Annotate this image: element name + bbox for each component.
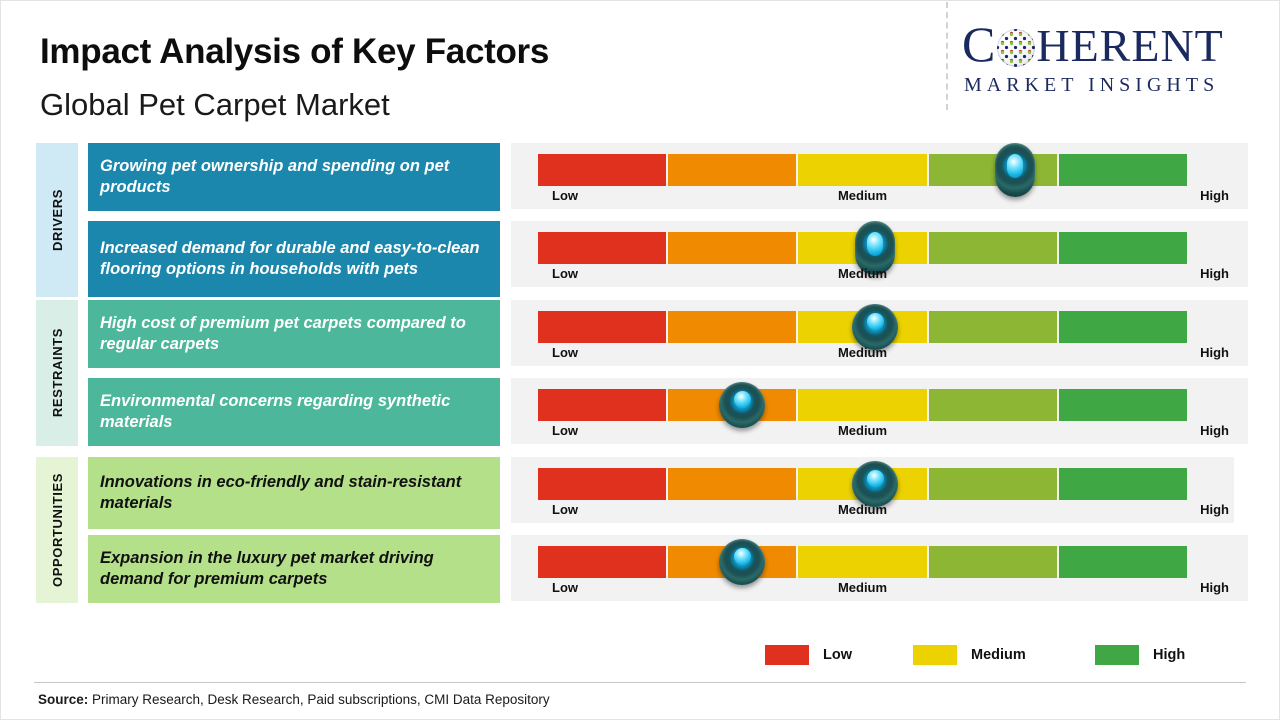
gauge-scale-bar (538, 389, 1187, 421)
legend-label: Medium (971, 647, 1026, 663)
scale-label-medium: Medium (838, 423, 887, 438)
gauge-segment-2 (668, 311, 796, 343)
gauge-segment-4 (929, 311, 1057, 343)
factor-box: Increased demand for durable and easy-to… (88, 221, 500, 297)
gauge-scale-labels: LowMediumHigh (538, 345, 1187, 365)
gauge-segment-5 (1059, 389, 1187, 421)
source-label: Source: (38, 692, 88, 707)
gauge-segment-1 (538, 154, 666, 186)
factor-box: Environmental concerns regarding synthet… (88, 378, 500, 446)
legend-swatch-medium (913, 645, 957, 665)
gauge-row: LowMediumHigh (511, 300, 1248, 366)
gauge-segment-4 (929, 468, 1057, 500)
impact-marker[interactable] (719, 539, 765, 585)
factor-box: High cost of premium pet carpets compare… (88, 300, 500, 368)
legend-swatch-low (765, 645, 809, 665)
legend-label: High (1153, 647, 1185, 663)
category-label: DRIVERS (50, 189, 65, 251)
gauge-segment-5 (1059, 468, 1187, 500)
scale-label-medium: Medium (838, 345, 887, 360)
category-strip-restraints: RESTRAINTS (36, 300, 78, 446)
legend-item-low: Low (765, 645, 852, 665)
gauge-scale-bar (538, 154, 1187, 186)
category-strip-opportunities: OPPORTUNITIES (36, 457, 78, 603)
gauge-segment-4 (929, 232, 1057, 264)
scale-label-high: High (1200, 502, 1229, 517)
scale-label-high: High (1200, 188, 1229, 203)
gauge-segment-5 (1059, 546, 1187, 578)
legend: Low Medium High (765, 645, 1185, 669)
gauge-segment-3 (798, 546, 926, 578)
gauge-segment-5 (1059, 154, 1187, 186)
gauge-segment-4 (929, 389, 1057, 421)
gauge-row: LowMediumHigh (511, 221, 1248, 287)
category-label: OPPORTUNITIES (50, 473, 65, 587)
impact-marker[interactable] (852, 304, 898, 350)
factor-box: Expansion in the luxury pet market drivi… (88, 535, 500, 603)
scale-label-medium: Medium (838, 188, 887, 203)
gauge-segment-1 (538, 546, 666, 578)
scale-label-low: Low (552, 580, 578, 595)
footer-divider (34, 682, 1246, 683)
gauge-segment-1 (538, 311, 666, 343)
gauge-row: LowMediumHigh (511, 143, 1248, 209)
scale-label-high: High (1200, 266, 1229, 281)
gauge-row: LowMediumHigh (511, 378, 1248, 444)
scale-label-low: Low (552, 423, 578, 438)
gauge-segment-5 (1059, 232, 1187, 264)
gauge-segment-1 (538, 389, 666, 421)
scale-label-low: Low (552, 188, 578, 203)
scale-label-medium: Medium (838, 266, 887, 281)
gauge-segment-4 (929, 546, 1057, 578)
gauge-segment-4 (929, 154, 1057, 186)
gauge-scale-labels: LowMediumHigh (538, 423, 1187, 443)
gauge-segment-1 (538, 232, 666, 264)
gauge-segment-1 (538, 468, 666, 500)
scale-label-medium: Medium (838, 502, 887, 517)
gauge-scale-bar (538, 546, 1187, 578)
gauge-scale-labels: LowMediumHigh (538, 580, 1187, 600)
gauge-segment-2 (668, 154, 796, 186)
gauge-scale-labels: LowMediumHigh (538, 502, 1187, 522)
factor-box: Growing pet ownership and spending on pe… (88, 143, 500, 211)
scale-label-medium: Medium (838, 580, 887, 595)
gauge-segment-2 (668, 232, 796, 264)
scale-label-high: High (1200, 580, 1229, 595)
gauge-row: LowMediumHigh (511, 457, 1234, 523)
scale-label-low: Low (552, 502, 578, 517)
category-label: RESTRAINTS (50, 328, 65, 417)
scale-label-high: High (1200, 345, 1229, 360)
scale-label-high: High (1200, 423, 1229, 438)
impact-marker[interactable] (852, 461, 898, 507)
scale-label-low: Low (552, 345, 578, 360)
gauge-scale-labels: LowMediumHigh (538, 266, 1187, 286)
impact-matrix: DRIVERS RESTRAINTS OPPORTUNITIES Growing… (0, 0, 1280, 720)
legend-item-medium: Medium (913, 645, 1026, 665)
gauge-segment-3 (798, 154, 926, 186)
legend-item-high: High (1095, 645, 1185, 665)
legend-label: Low (823, 647, 852, 663)
source-text: Primary Research, Desk Research, Paid su… (88, 692, 549, 707)
legend-swatch-high (1095, 645, 1139, 665)
source-line: Source: Primary Research, Desk Research,… (38, 692, 550, 707)
gauge-scale-labels: LowMediumHigh (538, 188, 1187, 208)
gauge-segment-2 (668, 468, 796, 500)
impact-marker[interactable] (719, 382, 765, 428)
gauge-row: LowMediumHigh (511, 535, 1248, 601)
factor-box: Innovations in eco-friendly and stain-re… (88, 457, 500, 529)
gauge-segment-5 (1059, 311, 1187, 343)
gauge-segment-3 (798, 389, 926, 421)
scale-label-low: Low (552, 266, 578, 281)
category-strip-drivers: DRIVERS (36, 143, 78, 297)
